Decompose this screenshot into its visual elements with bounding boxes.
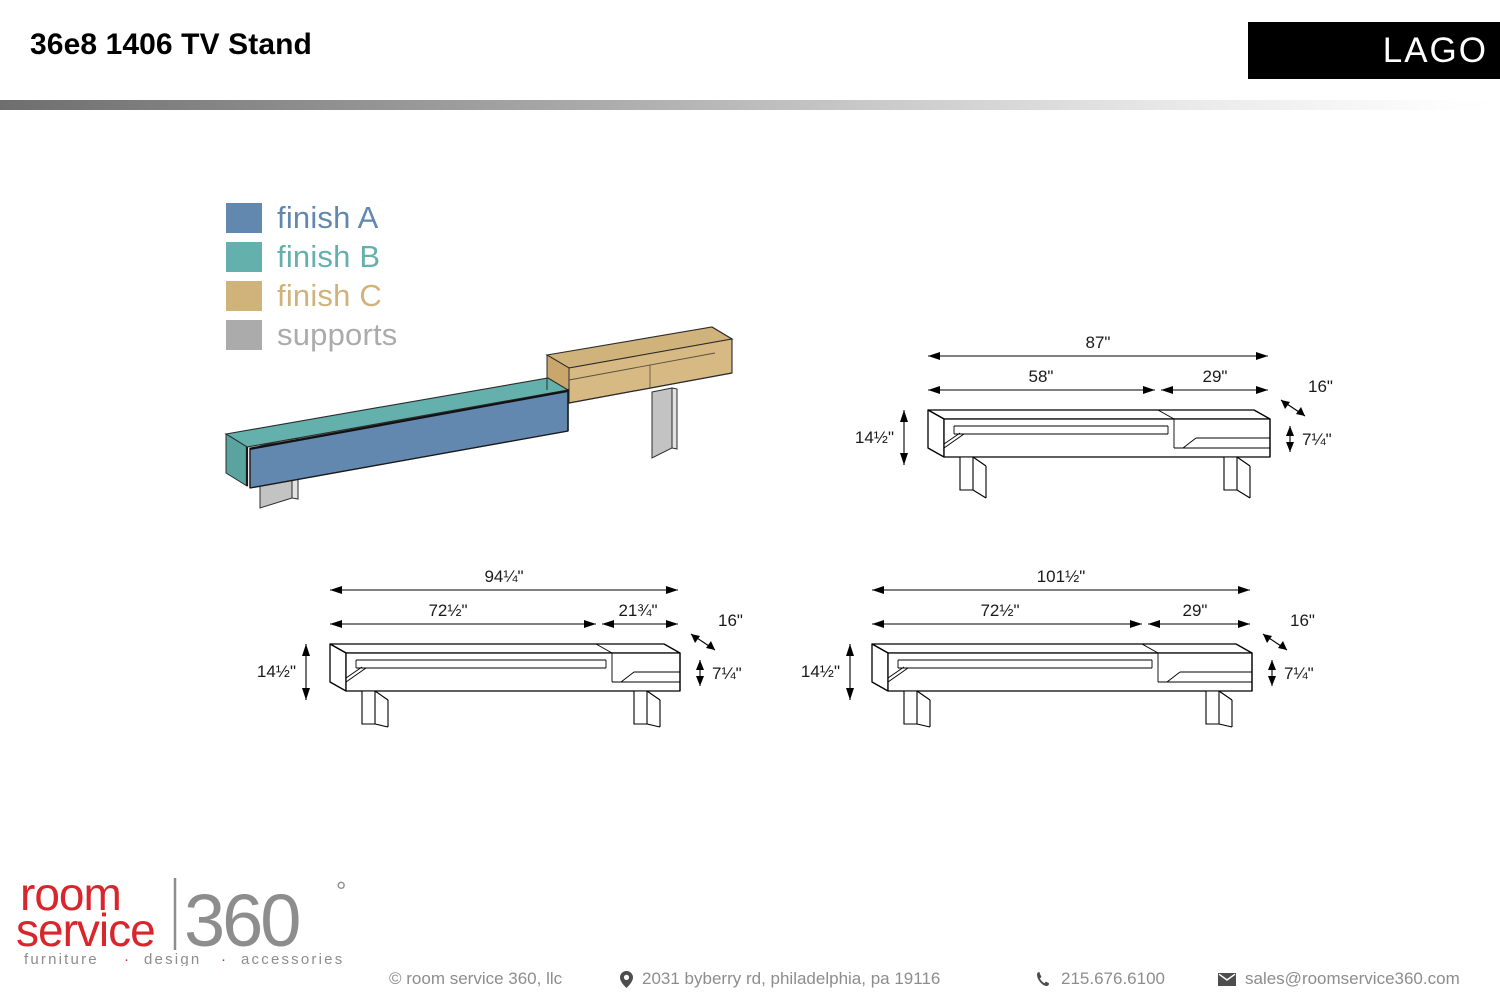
lago-logo: LAGO — [1248, 22, 1500, 79]
dim-text-height-short: 7¼" — [712, 664, 742, 683]
finish-a-swatch — [226, 203, 262, 233]
spec-sheet: 36e8 1406 TV Stand LAGO finish A finish … — [0, 0, 1500, 1000]
dim-text-left-seg: 72½" — [428, 601, 467, 620]
finish-b-swatch — [226, 242, 262, 272]
footer-email: sales@roomservice360.com — [1218, 969, 1460, 989]
dim-text-left-seg: 72½" — [980, 601, 1019, 620]
footer-copyright: © room service 360, llc — [389, 969, 562, 989]
footer-phone-text: 215.676.6100 — [1061, 969, 1165, 989]
location-pin-icon — [620, 971, 633, 988]
dim-text-right-seg: 29" — [1203, 367, 1228, 386]
dim-text-left-seg: 58" — [1029, 367, 1054, 386]
legend-item-finish-b: finish B — [226, 237, 398, 276]
logo-word-service: service — [16, 904, 155, 956]
room-service-360-logo: room service 360 ° furniture · design · … — [14, 866, 374, 966]
footer-contact-bar: © room service 360, llc 2031 byberry rd,… — [0, 958, 1500, 1000]
logo-degree-symbol: ° — [336, 876, 346, 906]
footer-address-text: 2031 byberry rd, philadelphia, pa 19116 — [642, 969, 940, 989]
finish-c-swatch — [226, 281, 262, 311]
envelope-icon — [1218, 973, 1236, 986]
logo-number-360: 360 — [184, 879, 299, 962]
dim-text-height-short: 7¼" — [1284, 664, 1314, 683]
drawing-config-87: 87" 58" 29" 14½" 7¼" 16" — [838, 330, 1358, 500]
legend-item-finish-c: finish C — [226, 276, 398, 315]
support-plates — [362, 691, 660, 727]
header-divider — [0, 100, 1500, 110]
dim-text-depth: 16" — [1308, 377, 1333, 396]
drawing-config-101-5: 101½" 72½" 29" 14½" 7¼" 16" — [800, 552, 1330, 727]
legend-label-finish-a: finish A — [277, 202, 379, 233]
drawing-config-94-25: 94¼" 72½" 21¾" 14½" 7¼" 16" — [248, 552, 768, 727]
support-right-plate — [652, 388, 677, 458]
support-plates — [904, 691, 1232, 727]
finish-c-module — [547, 327, 732, 403]
dim-text-depth: 16" — [718, 611, 743, 630]
phone-icon — [1036, 971, 1052, 987]
legend-label-finish-c: finish C — [277, 280, 382, 311]
cabinet-wireframe — [928, 410, 1270, 457]
perspective-view — [200, 318, 760, 528]
footer-phone: 215.676.6100 — [1036, 969, 1165, 989]
cabinet-wireframe — [330, 644, 680, 691]
dim-text-depth: 16" — [1290, 611, 1315, 630]
dim-text-height-tall: 14½" — [855, 428, 894, 447]
dim-text-overall: 94¼" — [484, 567, 523, 586]
footer-address: 2031 byberry rd, philadelphia, pa 19116 — [620, 969, 940, 989]
dim-text-right-seg: 29" — [1183, 601, 1208, 620]
dim-text-overall: 87" — [1086, 333, 1111, 352]
footer-copyright-text: © room service 360, llc — [389, 969, 562, 989]
lago-logo-text: LAGO — [1383, 33, 1500, 68]
dim-text-height-tall: 14½" — [801, 662, 840, 681]
support-plates — [960, 457, 1250, 498]
legend-label-finish-b: finish B — [277, 241, 380, 272]
page-title: 36e8 1406 TV Stand — [30, 28, 312, 62]
legend-item-finish-a: finish A — [226, 198, 398, 237]
dim-text-right-seg: 21¾" — [618, 601, 657, 620]
dim-text-height-tall: 14½" — [257, 662, 296, 681]
cabinet-wireframe — [872, 644, 1252, 691]
dim-text-overall: 101½" — [1037, 567, 1086, 586]
dim-text-height-short: 7¼" — [1302, 430, 1332, 449]
footer-email-text: sales@roomservice360.com — [1245, 969, 1460, 989]
